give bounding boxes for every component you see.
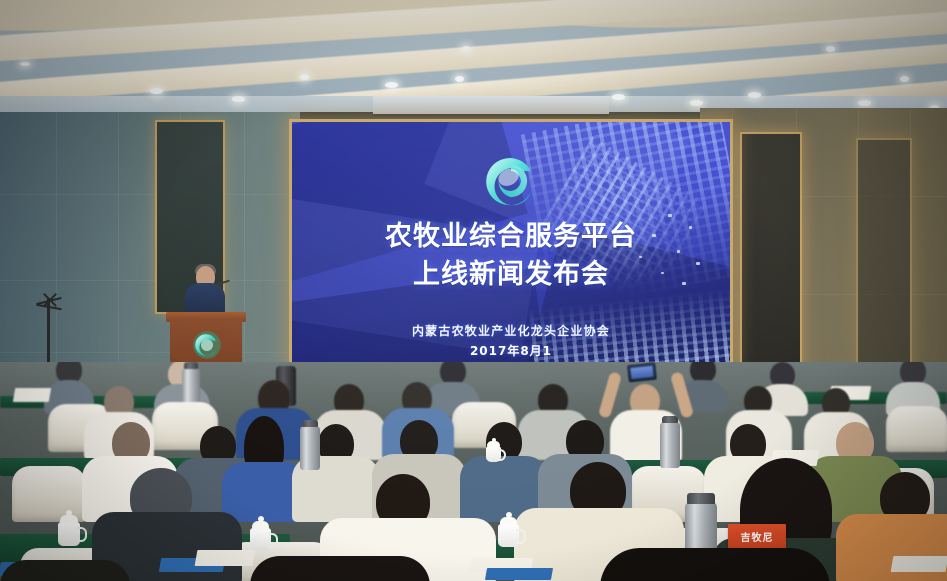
ceiling-mounted-monitor [373,96,609,117]
screen-sparkle [668,214,672,217]
banquet-chair [12,466,86,522]
paper-sheet [195,550,256,566]
downlight-icon [300,74,309,80]
foreground-silhouette [600,548,830,581]
podium-logo-icon [192,330,222,360]
coat-rack [47,298,50,370]
thermos [300,426,320,470]
paper-sheet [13,388,51,402]
platform-logo-icon [480,150,542,212]
foreground-silhouette [0,560,130,581]
downlight-icon [150,88,163,94]
downlight-icon [612,94,625,100]
banquet-chair [886,406,947,452]
downlight-icon [748,92,761,98]
downlight-icon [858,100,871,106]
wall-niche-right-a [742,134,800,366]
conference-photo-scene: 农牧业综合服务平台 上线新闻发布会 内蒙古农牧业产业化龙头企业协会 2017年8… [0,0,947,581]
audience-seating: 吉牧尼 [0,362,947,581]
teacup [250,528,271,551]
led-display-frame: 农牧业综合服务平台 上线新闻发布会 内蒙古农牧业产业化龙头企业协会 2017年8… [289,119,733,367]
downlight-icon [826,46,835,52]
document-folder [485,568,553,580]
downlight-icon [690,100,703,106]
downlight-icon [462,46,470,51]
downlight-icon [455,76,464,82]
wall-niche-right-b [858,140,910,366]
downlight-icon [20,62,30,66]
downlight-icon [385,82,398,88]
smartphone[interactable] [627,363,657,383]
screen-title: 农牧业综合服务平台 上线新闻发布会 [292,218,730,295]
foreground-silhouette [250,556,430,581]
screen-date: 2017年8月1 [292,342,730,359]
teacup [486,446,501,462]
thermos [660,422,680,468]
paper-sheet [891,556,947,572]
downlight-icon [900,76,909,82]
led-display: 农牧业综合服务平台 上线新闻发布会 内蒙古农牧业产业化龙头企业协会 2017年8… [292,122,730,364]
photographer-arm-left [598,371,622,419]
screen-subtitle: 内蒙古农牧业产业化龙头企业协会 [292,322,730,339]
screen-title-line2: 上线新闻发布会 [292,256,730,294]
teacup [58,522,80,546]
downlight-icon [232,96,245,102]
teacup [498,524,519,547]
left-wall [0,112,300,402]
thermos [182,368,200,404]
screen-title-line1: 农牧业综合服务平台 [292,218,730,256]
